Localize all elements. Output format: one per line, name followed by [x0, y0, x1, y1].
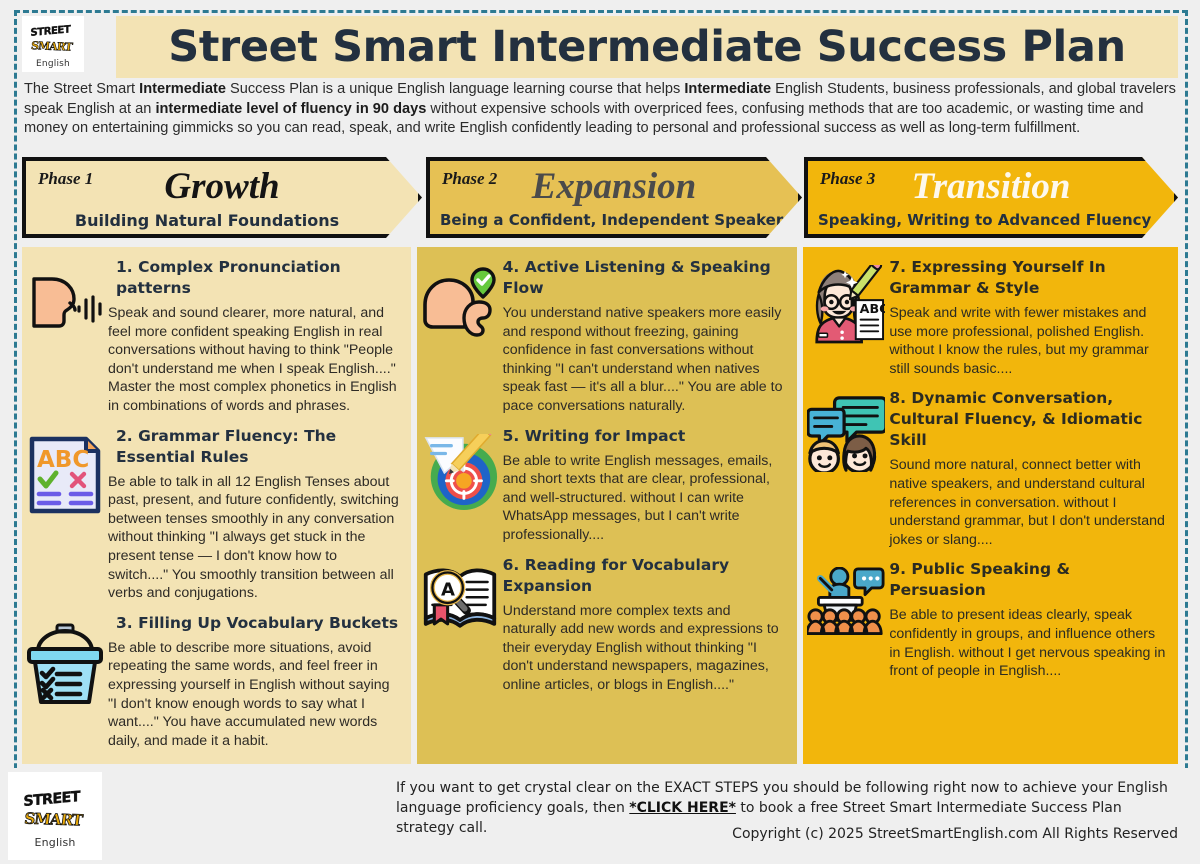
phase-banner-row: Phase 1 Growth Building Natural Foundati… — [22, 157, 1178, 241]
svg-text:SMART: SMART — [24, 809, 85, 829]
abc-document-icon: ABC — [26, 426, 104, 603]
benefit-title: 6. Reading for Vocabulary Expansion — [503, 555, 788, 597]
phase-3-name: Transition — [848, 165, 1134, 209]
chat-bubbles-people-icon — [807, 388, 885, 549]
intro-part-2: Success Plan is a unique English languag… — [226, 81, 684, 97]
footer-logo-subtext: English — [34, 836, 75, 849]
benefit-text: Be able to present ideas clearly, speak … — [889, 606, 1168, 680]
copyright-text: Copyright (c) 2025 StreetSmartEnglish.co… — [732, 826, 1178, 842]
intro-bold-2: Intermediate — [684, 81, 771, 97]
svg-text:STREET: STREET — [23, 789, 80, 810]
benefit-title: 3. Filling Up Vocabulary Buckets — [108, 613, 401, 634]
benefit-item: 1. Complex Pronunciation patterns Speak … — [22, 247, 411, 416]
phase-2-label: Phase 2 — [442, 169, 497, 189]
phase-banner-1: Phase 1 Growth Building Natural Foundati… — [22, 157, 422, 238]
svg-text:STREET: STREET — [30, 23, 71, 39]
benefit-item: 9. Public Speaking & Persuasion Be able … — [803, 549, 1178, 680]
phase-2-column: 4. Active Listening & Speaking Flow You … — [417, 247, 798, 764]
phase-banner-2: Phase 2 Expansion Being a Confident, Ind… — [426, 157, 802, 238]
benefit-text: Be able to write English messages, email… — [503, 452, 788, 545]
benefit-item: ABC 2. Grammar Fluency: The Essential Ru… — [22, 416, 411, 603]
phase-3-label: Phase 3 — [820, 169, 875, 189]
speaking-head-icon — [26, 257, 104, 416]
phase-3-column: ABC — [803, 247, 1178, 764]
vocabulary-bucket-icon — [26, 613, 104, 751]
listening-head-ear-icon — [421, 257, 499, 416]
phase-2-subtitle: Being a Confident, Independent Speaker — [440, 211, 758, 229]
svg-text:SMART: SMART — [31, 39, 74, 54]
footer-brand-logo: STREET SMART English — [8, 772, 102, 860]
brand-logo: STREET SMART English — [22, 16, 84, 72]
intro-bold-1: Intermediate — [139, 81, 226, 97]
phase-1-name: Growth — [66, 165, 378, 209]
book-magnifier-icon: A — [421, 555, 499, 695]
benefit-text: Speak and sound clearer, more natural, a… — [108, 304, 401, 416]
teacher-woman-icon: ABC — [807, 257, 885, 378]
benefit-text: Be able to talk in all 12 English Tenses… — [108, 473, 401, 603]
benefit-title: 8. Dynamic Conversation, Cultural Fluenc… — [889, 388, 1168, 451]
benefit-title: 4. Active Listening & Speaking Flow — [503, 257, 788, 299]
street-smart-logo-icon: STREET SMART — [19, 784, 91, 836]
svg-text:ABC: ABC — [37, 447, 89, 473]
infographic-page: STREET SMART English Street Smart Interm… — [0, 0, 1200, 864]
benefit-title: 7. Expressing Yourself In Grammar & Styl… — [889, 257, 1168, 299]
phase-banner-3: Phase 3 Transition Speaking, Writing to … — [804, 157, 1178, 238]
intro-part-1: The Street Smart — [24, 81, 139, 97]
title-banner: Street Smart Intermediate Success Plan — [116, 16, 1178, 78]
benefit-item: 5. Writing for Impact Be able to write E… — [417, 416, 798, 545]
header: STREET SMART English Street Smart Interm… — [22, 16, 1178, 78]
public-speaking-podium-icon — [807, 559, 885, 680]
footer: STREET SMART English If you want to get … — [0, 768, 1200, 864]
phase-3-subtitle: Speaking, Writing to Advanced Fluency — [818, 211, 1134, 229]
benefit-item: 4. Active Listening & Speaking Flow You … — [417, 247, 798, 416]
benefit-title: 2. Grammar Fluency: The Essential Rules — [108, 426, 401, 468]
phase-1-subtitle: Building Natural Foundations — [36, 211, 378, 230]
benefit-item: 3. Filling Up Vocabulary Buckets Be able… — [22, 603, 411, 751]
logo-subtext: English — [36, 59, 70, 69]
phase-1-column: 1. Complex Pronunciation patterns Speak … — [22, 247, 411, 764]
benefit-text: You understand native speakers more easi… — [503, 304, 788, 416]
benefit-text: Understand more complex texts and natura… — [503, 602, 788, 695]
benefit-item: 8. Dynamic Conversation, Cultural Fluenc… — [803, 378, 1178, 549]
page-title: Street Smart Intermediate Success Plan — [168, 22, 1125, 72]
benefit-title: 5. Writing for Impact — [503, 426, 788, 447]
street-smart-logo-icon: STREET SMART — [26, 19, 80, 59]
benefit-title: 1. Complex Pronunciation patterns — [108, 257, 401, 299]
phase-1-label: Phase 1 — [38, 169, 93, 189]
svg-text:ABC: ABC — [860, 301, 885, 316]
content-columns: 1. Complex Pronunciation patterns Speak … — [22, 247, 1178, 764]
writing-target-icon — [421, 426, 499, 545]
intro-paragraph: The Street Smart Intermediate Success Pl… — [24, 80, 1176, 139]
benefit-item: A 6. Reading for Vocabulary Expansion Un… — [417, 545, 798, 695]
click-here-link[interactable]: *CLICK HERE* — [629, 800, 736, 816]
benefit-text: Be able to describe more situations, avo… — [108, 639, 401, 751]
phase-2-name: Expansion — [470, 165, 758, 209]
benefit-text: Speak and write with fewer mistakes and … — [889, 304, 1168, 378]
benefit-text: Sound more natural, connect better with … — [889, 456, 1168, 549]
intro-bold-3: intermediate level of fluency in 90 days — [155, 101, 426, 117]
benefit-title: 9. Public Speaking & Persuasion — [889, 559, 1168, 601]
benefit-item: ABC — [803, 247, 1178, 378]
svg-text:A: A — [441, 579, 455, 600]
